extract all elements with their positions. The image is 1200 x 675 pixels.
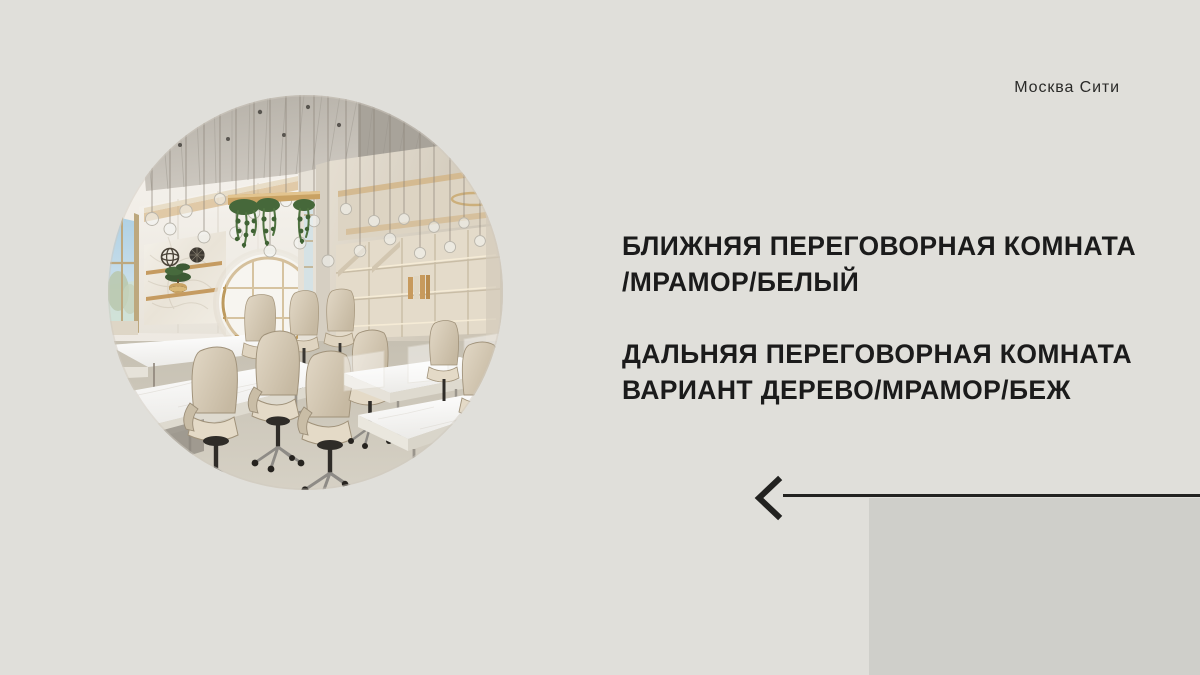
heading-group: БЛИЖНЯЯ ПЕРЕГОВОРНАЯ КОМНАТА /МРАМОР/БЕЛ… <box>622 228 1167 408</box>
chevron-left-icon <box>750 474 790 522</box>
heading-near-meeting-room: БЛИЖНЯЯ ПЕРЕГОВОРНАЯ КОМНАТА /МРАМОР/БЕЛ… <box>622 228 1167 300</box>
accent-panel <box>869 498 1200 675</box>
heading-far-meeting-room: ДАЛЬНЯЯ ПЕРЕГОВОРНАЯ КОМНАТА ВАРИАНТ ДЕР… <box>622 336 1167 408</box>
meeting-room-illustration <box>108 95 503 490</box>
location-label: Москва Сити <box>0 78 1120 98</box>
slide-canvas: Москва Сити <box>0 0 1200 675</box>
back-button[interactable] <box>750 474 790 522</box>
divider-rule <box>783 494 1200 497</box>
meeting-room-photo <box>108 95 503 490</box>
